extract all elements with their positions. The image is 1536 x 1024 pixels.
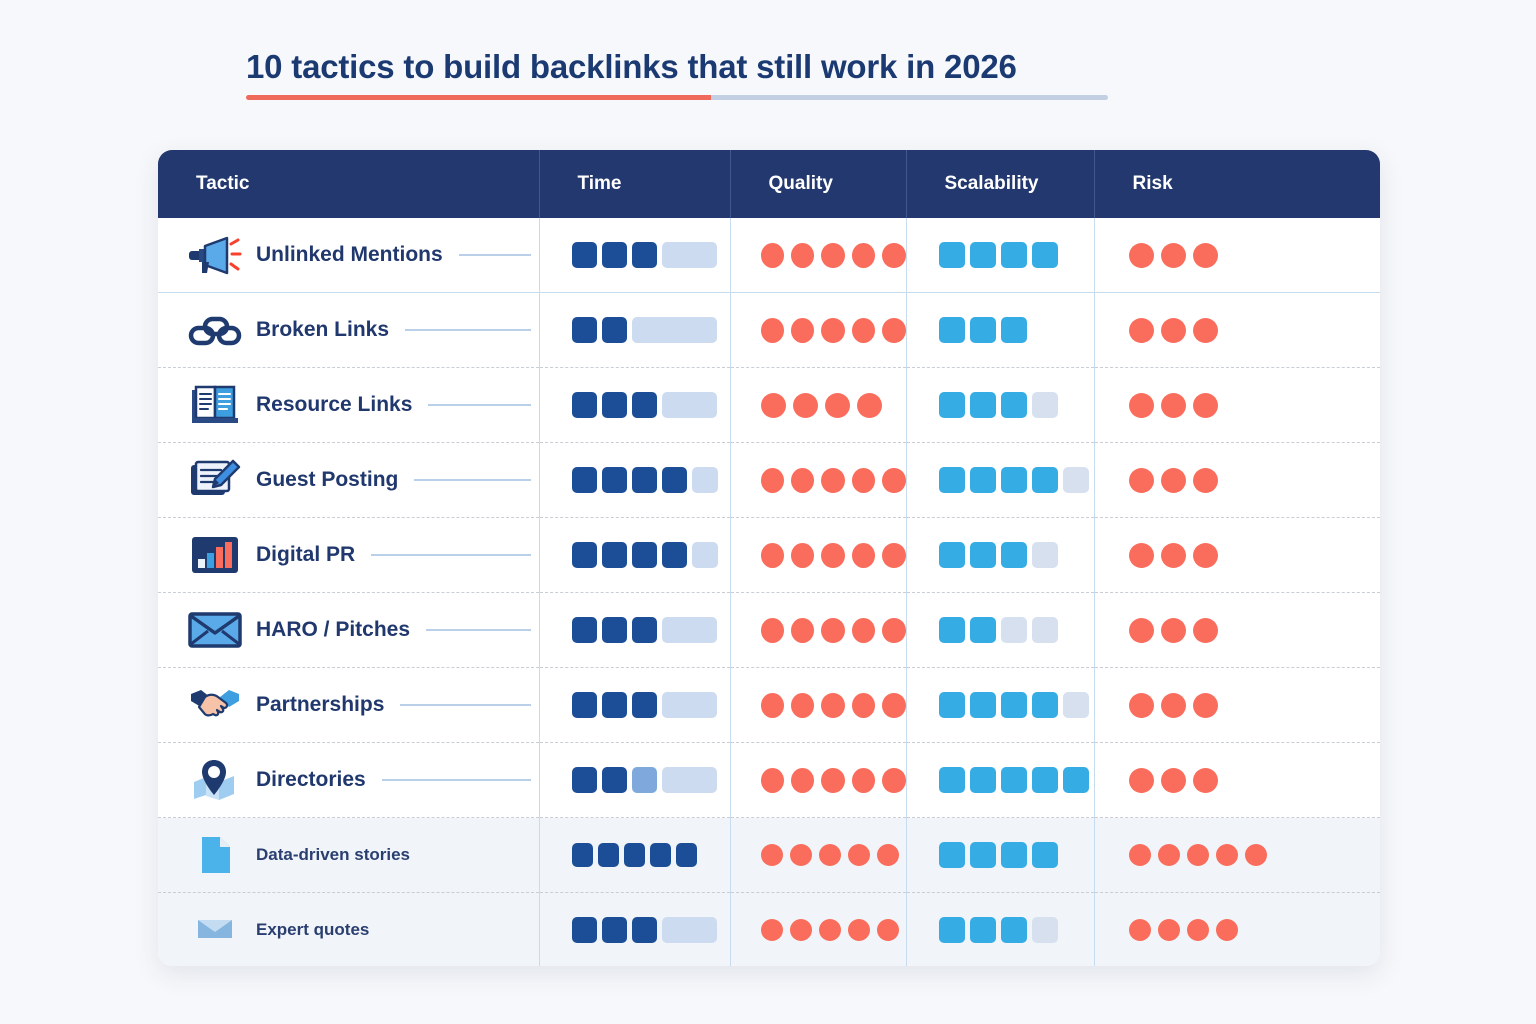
risk-rating xyxy=(1095,818,1381,892)
time-meter xyxy=(540,218,730,292)
rating-dot xyxy=(882,618,905,643)
table-row[interactable]: Broken Links xyxy=(158,293,1380,368)
time-remainder-bar xyxy=(662,242,717,268)
rating-dot xyxy=(1129,543,1154,568)
cell-time[interactable] xyxy=(539,743,730,818)
rating-dot xyxy=(1161,318,1186,343)
time-remainder-bar xyxy=(662,392,717,418)
scalability-square-filled xyxy=(1001,917,1027,943)
scalability-square-filled xyxy=(1001,767,1027,793)
title-underline-trail xyxy=(711,95,1108,100)
tactic-label: Directories xyxy=(256,768,366,792)
row-connector-line xyxy=(426,854,531,856)
cell-time[interactable] xyxy=(539,593,730,668)
scalability-square-filled xyxy=(970,392,996,418)
scalability-square-filled xyxy=(1001,467,1027,493)
rating-dot xyxy=(791,468,814,493)
title-block: 10 tactics to build backlinks that still… xyxy=(246,48,1146,100)
scalability-square-filled xyxy=(1032,692,1058,718)
time-remainder-bar xyxy=(692,467,718,493)
cell-scalability[interactable] xyxy=(906,218,1094,293)
rating-dot xyxy=(857,393,882,418)
risk-rating xyxy=(1095,218,1381,292)
rating-dot xyxy=(1129,844,1151,866)
cell-tactic[interactable]: Broken Links xyxy=(158,293,539,368)
quality-rating xyxy=(731,668,906,742)
cell-time[interactable] xyxy=(539,368,730,443)
row-connector-line xyxy=(428,404,530,406)
rating-dot xyxy=(1129,243,1154,268)
rating-dot xyxy=(877,844,899,866)
cell-scalability[interactable] xyxy=(906,743,1094,818)
rating-dot xyxy=(852,543,875,568)
rating-dot xyxy=(1187,844,1209,866)
megaphone-icon xyxy=(186,230,244,280)
rating-dot xyxy=(819,844,841,866)
tactic-label: Expert quotes xyxy=(256,920,369,940)
rating-dot xyxy=(852,693,875,718)
time-segment-filled xyxy=(572,767,597,793)
cell-risk[interactable] xyxy=(1094,368,1380,443)
time-segment-filled xyxy=(632,617,657,643)
cell-tactic[interactable]: Guest Posting xyxy=(158,443,539,518)
cell-risk[interactable] xyxy=(1094,218,1380,293)
scalability-square-filled xyxy=(970,242,996,268)
cell-tactic[interactable]: Expert quotes xyxy=(158,893,539,967)
cell-scalability[interactable] xyxy=(906,368,1094,443)
cell-tactic[interactable]: HARO / Pitches xyxy=(158,593,539,668)
cell-time[interactable] xyxy=(539,818,730,893)
table-row[interactable]: Partnerships xyxy=(158,668,1380,743)
rating-dot xyxy=(1193,543,1218,568)
time-segment-filled xyxy=(624,843,645,867)
rating-dot xyxy=(819,919,841,941)
risk-rating xyxy=(1095,668,1381,742)
rating-dot xyxy=(821,618,844,643)
tactic-label: Guest Posting xyxy=(256,468,398,492)
rating-dot xyxy=(882,768,905,793)
scalability-meter xyxy=(907,893,1094,966)
rating-dot xyxy=(852,243,875,268)
quality-rating xyxy=(731,743,906,817)
cell-time[interactable] xyxy=(539,893,730,967)
rating-dot xyxy=(882,243,905,268)
rating-dot xyxy=(1129,618,1154,643)
column-header-quality[interactable]: Quality xyxy=(730,150,906,218)
cell-tactic[interactable]: Data-driven stories xyxy=(158,818,539,893)
scalability-square-empty xyxy=(1032,617,1058,643)
rating-dot xyxy=(791,543,814,568)
rating-dot xyxy=(1193,318,1218,343)
rating-dot xyxy=(1193,693,1218,718)
time-remainder-bar xyxy=(632,317,717,343)
rating-dot xyxy=(1161,768,1186,793)
scalability-square-filled xyxy=(970,317,996,343)
scalability-square-filled xyxy=(939,617,965,643)
row-connector-line xyxy=(385,929,530,931)
time-remainder-bar xyxy=(692,542,718,568)
tactic-label: Partnerships xyxy=(256,693,384,717)
open-book-icon xyxy=(186,380,244,430)
table-row[interactable]: Unlinked Mentions xyxy=(158,218,1380,293)
rating-dot xyxy=(1129,768,1154,793)
scalability-meter xyxy=(907,293,1094,367)
rating-dot xyxy=(761,468,784,493)
table-row[interactable]: HARO / Pitches xyxy=(158,593,1380,668)
table-row[interactable]: Resource Links xyxy=(158,368,1380,443)
row-connector-line xyxy=(414,479,530,481)
time-meter xyxy=(540,443,730,517)
scalability-square-filled xyxy=(970,692,996,718)
cell-risk[interactable] xyxy=(1094,518,1380,593)
rating-dot xyxy=(877,919,899,941)
time-segment-filled xyxy=(662,542,687,568)
risk-rating xyxy=(1095,593,1381,667)
rating-dot xyxy=(1158,919,1180,941)
time-segment-filled xyxy=(602,692,627,718)
cell-quality[interactable] xyxy=(730,218,906,293)
time-segment-filled xyxy=(632,917,657,943)
table-row[interactable]: Directories xyxy=(158,743,1380,818)
rating-dot xyxy=(1129,393,1154,418)
rating-dot xyxy=(1158,844,1180,866)
risk-rating xyxy=(1095,893,1381,966)
scalability-square-filled xyxy=(970,767,996,793)
column-header-time[interactable]: Time xyxy=(539,150,730,218)
envelope-icon xyxy=(186,605,244,655)
scalability-square-filled xyxy=(1001,842,1027,868)
scalability-meter xyxy=(907,518,1094,592)
rating-dot xyxy=(761,693,784,718)
rating-dot xyxy=(821,543,844,568)
scalability-square-filled xyxy=(939,542,965,568)
rating-dot xyxy=(821,243,844,268)
time-segment-filled xyxy=(572,317,597,343)
scalability-square-filled xyxy=(939,767,965,793)
rating-dot xyxy=(1129,318,1154,343)
table-row[interactable]: Guest Posting xyxy=(158,443,1380,518)
time-segment-filled xyxy=(632,542,657,568)
rating-dot xyxy=(1129,468,1154,493)
rating-dot xyxy=(882,468,905,493)
scalability-square-filled xyxy=(1032,467,1058,493)
rating-dot xyxy=(761,543,784,568)
rating-dot xyxy=(882,318,905,343)
scalability-square-filled xyxy=(939,917,965,943)
rating-dot xyxy=(882,693,905,718)
cell-time[interactable] xyxy=(539,518,730,593)
table-row[interactable]: Expert quotes xyxy=(158,893,1380,967)
scalability-square-filled xyxy=(939,317,965,343)
time-segment-filled xyxy=(572,692,597,718)
time-meter xyxy=(540,668,730,742)
time-segment-filled xyxy=(572,843,593,867)
quality-rating xyxy=(731,293,906,367)
time-meter xyxy=(540,293,730,367)
time-meter xyxy=(540,893,730,966)
cell-risk[interactable] xyxy=(1094,818,1380,893)
scalability-square-filled xyxy=(1001,392,1027,418)
rating-dot xyxy=(761,919,783,941)
time-segment-filled xyxy=(650,843,671,867)
scalability-square-filled xyxy=(1063,767,1089,793)
time-meter xyxy=(540,593,730,667)
cell-tactic[interactable]: Digital PR xyxy=(158,518,539,593)
time-segment-partial xyxy=(632,767,657,793)
table-row[interactable]: Data-driven stories xyxy=(158,818,1380,893)
time-remainder-bar xyxy=(662,917,717,943)
table-row[interactable]: Digital PR xyxy=(158,518,1380,593)
tactic-label: HARO / Pitches xyxy=(256,618,410,642)
quality-rating xyxy=(731,218,906,292)
quality-rating xyxy=(731,368,906,442)
rating-dot xyxy=(761,318,784,343)
scalability-square-filled xyxy=(1001,692,1027,718)
rating-dot xyxy=(882,543,905,568)
time-meter xyxy=(540,743,730,817)
row-connector-line xyxy=(371,554,530,556)
time-segment-filled xyxy=(572,917,597,943)
time-segment-filled xyxy=(572,467,597,493)
time-segment-filled xyxy=(572,392,597,418)
time-remainder-bar xyxy=(662,767,717,793)
cell-risk[interactable] xyxy=(1094,443,1380,518)
time-segment-filled xyxy=(602,542,627,568)
scalability-square-filled xyxy=(1032,842,1058,868)
cell-quality[interactable] xyxy=(730,443,906,518)
column-header-tactic[interactable]: Tactic xyxy=(158,150,539,218)
handshake-icon xyxy=(186,680,244,730)
quality-rating xyxy=(731,443,906,517)
time-segment-filled xyxy=(602,467,627,493)
scalability-square-filled xyxy=(1032,767,1058,793)
scalability-square-filled xyxy=(1001,242,1027,268)
cell-scalability[interactable] xyxy=(906,893,1094,967)
rating-dot xyxy=(791,768,814,793)
rating-dot xyxy=(825,393,850,418)
scalability-square-empty xyxy=(1032,917,1058,943)
cell-risk[interactable] xyxy=(1094,743,1380,818)
scalability-meter xyxy=(907,818,1094,892)
cell-time[interactable] xyxy=(539,218,730,293)
risk-rating xyxy=(1095,443,1381,517)
rating-dot xyxy=(761,618,784,643)
quality-rating xyxy=(731,893,906,966)
risk-rating xyxy=(1095,293,1381,367)
scalability-square-filled xyxy=(1001,542,1027,568)
scalability-square-filled xyxy=(970,542,996,568)
time-segment-filled xyxy=(602,317,627,343)
cell-time[interactable] xyxy=(539,668,730,743)
scalability-meter xyxy=(907,593,1094,667)
scalability-square-filled xyxy=(970,617,996,643)
rating-dot xyxy=(791,243,814,268)
time-segment-filled xyxy=(632,467,657,493)
row-connector-line xyxy=(459,254,531,256)
scalability-square-filled xyxy=(1032,242,1058,268)
cell-tactic[interactable]: Partnerships xyxy=(158,668,539,743)
scalability-square-filled xyxy=(939,842,965,868)
rating-dot xyxy=(790,919,812,941)
scalability-meter xyxy=(907,218,1094,292)
table-body: Unlinked Mentions Broken Links xyxy=(158,218,1380,966)
scalability-square-empty xyxy=(1001,617,1027,643)
scalability-square-empty xyxy=(1032,542,1058,568)
rating-dot xyxy=(1161,393,1186,418)
cell-risk[interactable] xyxy=(1094,893,1380,967)
cell-quality[interactable] xyxy=(730,743,906,818)
time-segment-filled xyxy=(632,692,657,718)
scalability-square-filled xyxy=(939,392,965,418)
row-connector-line xyxy=(426,629,530,631)
rating-dot xyxy=(1161,693,1186,718)
rating-dot xyxy=(1216,844,1238,866)
rating-dot xyxy=(1161,618,1186,643)
row-connector-line xyxy=(382,779,531,781)
cell-tactic[interactable]: Directories xyxy=(158,743,539,818)
tactic-label: Digital PR xyxy=(256,543,355,567)
rating-dot xyxy=(1193,468,1218,493)
rating-dot xyxy=(1193,618,1218,643)
scalability-square-filled xyxy=(939,467,965,493)
tactics-table: Tactic Time Quality Scalability Risk Unl… xyxy=(158,150,1380,966)
cell-quality[interactable] xyxy=(730,368,906,443)
rating-dot xyxy=(1187,919,1209,941)
title-underline-accent xyxy=(246,95,711,100)
rating-dot xyxy=(1129,919,1151,941)
rating-dot xyxy=(1245,844,1267,866)
rating-dot xyxy=(852,618,875,643)
time-segment-filled xyxy=(598,843,619,867)
quality-rating xyxy=(731,518,906,592)
time-segment-filled xyxy=(676,843,697,867)
time-segment-filled xyxy=(602,617,627,643)
mail-light-icon xyxy=(186,905,244,955)
rating-dot xyxy=(761,243,784,268)
time-remainder-bar xyxy=(662,617,717,643)
cell-risk[interactable] xyxy=(1094,293,1380,368)
cell-quality[interactable] xyxy=(730,518,906,593)
scalability-meter xyxy=(907,743,1094,817)
row-connector-line xyxy=(405,329,530,331)
table-header-row: Tactic Time Quality Scalability Risk xyxy=(158,150,1380,218)
cell-scalability[interactable] xyxy=(906,293,1094,368)
scalability-square-filled xyxy=(939,242,965,268)
rating-dot xyxy=(821,693,844,718)
quality-rating xyxy=(731,593,906,667)
cell-quality[interactable] xyxy=(730,893,906,967)
cell-risk[interactable] xyxy=(1094,593,1380,668)
comparison-card: Tactic Time Quality Scalability Risk Unl… xyxy=(158,150,1380,966)
cell-scalability[interactable] xyxy=(906,518,1094,593)
cell-tactic[interactable]: Resource Links xyxy=(158,368,539,443)
scalability-meter xyxy=(907,368,1094,442)
quality-rating xyxy=(731,818,906,892)
cell-time[interactable] xyxy=(539,293,730,368)
rating-dot xyxy=(791,318,814,343)
time-segment-filled xyxy=(602,392,627,418)
row-connector-line xyxy=(400,704,530,706)
risk-rating xyxy=(1095,368,1381,442)
rating-dot xyxy=(1216,919,1238,941)
rating-dot xyxy=(761,393,786,418)
column-header-risk[interactable]: Risk xyxy=(1094,150,1380,218)
time-remainder-bar xyxy=(662,692,717,718)
rating-dot xyxy=(793,393,818,418)
cell-scalability[interactable] xyxy=(906,818,1094,893)
time-meter xyxy=(540,368,730,442)
rating-dot xyxy=(1161,243,1186,268)
time-segment-filled xyxy=(662,467,687,493)
cell-quality[interactable] xyxy=(730,593,906,668)
scalability-square-filled xyxy=(970,917,996,943)
bar-chart-icon xyxy=(186,530,244,580)
risk-rating xyxy=(1095,743,1381,817)
rating-dot xyxy=(1161,543,1186,568)
tactic-label: Resource Links xyxy=(256,393,412,417)
rating-dot xyxy=(1129,693,1154,718)
scalability-square-filled xyxy=(1001,317,1027,343)
risk-rating xyxy=(1095,518,1381,592)
cell-quality[interactable] xyxy=(730,293,906,368)
cell-quality[interactable] xyxy=(730,668,906,743)
rating-dot xyxy=(791,618,814,643)
column-header-scalability[interactable]: Scalability xyxy=(906,150,1094,218)
time-meter xyxy=(540,518,730,592)
scalability-square-empty xyxy=(1032,392,1058,418)
cell-tactic[interactable]: Unlinked Mentions xyxy=(158,218,539,293)
time-segment-filled xyxy=(602,917,627,943)
rating-dot xyxy=(1193,243,1218,268)
cell-scalability[interactable] xyxy=(906,593,1094,668)
scalability-square-empty xyxy=(1063,692,1089,718)
time-segment-filled xyxy=(572,542,597,568)
cell-risk[interactable] xyxy=(1094,668,1380,743)
cell-quality[interactable] xyxy=(730,818,906,893)
rating-dot xyxy=(852,468,875,493)
rating-dot xyxy=(761,844,783,866)
rating-dot xyxy=(1193,393,1218,418)
map-pin-icon xyxy=(186,755,244,805)
tactic-label: Unlinked Mentions xyxy=(256,243,443,267)
rating-dot xyxy=(821,768,844,793)
time-segment-filled xyxy=(602,242,627,268)
rating-dot xyxy=(852,318,875,343)
tactic-label: Data-driven stories xyxy=(256,845,410,865)
cell-scalability[interactable] xyxy=(906,443,1094,518)
cell-scalability[interactable] xyxy=(906,668,1094,743)
time-segment-filled xyxy=(602,767,627,793)
document-icon xyxy=(186,830,244,880)
rating-dot xyxy=(821,318,844,343)
scalability-meter xyxy=(907,443,1094,517)
scalability-square-filled xyxy=(970,467,996,493)
title-underline xyxy=(246,95,1108,100)
time-segment-filled xyxy=(572,617,597,643)
time-segment-filled xyxy=(632,242,657,268)
time-segment-filled xyxy=(632,392,657,418)
rating-dot xyxy=(848,844,870,866)
rating-dot xyxy=(1161,468,1186,493)
broken-link-icon xyxy=(186,305,244,355)
rating-dot xyxy=(1193,768,1218,793)
cell-time[interactable] xyxy=(539,443,730,518)
time-meter xyxy=(540,818,730,892)
rating-dot xyxy=(790,844,812,866)
time-segment-filled xyxy=(572,242,597,268)
scalability-square-filled xyxy=(970,842,996,868)
notepad-pencil-icon xyxy=(186,455,244,505)
